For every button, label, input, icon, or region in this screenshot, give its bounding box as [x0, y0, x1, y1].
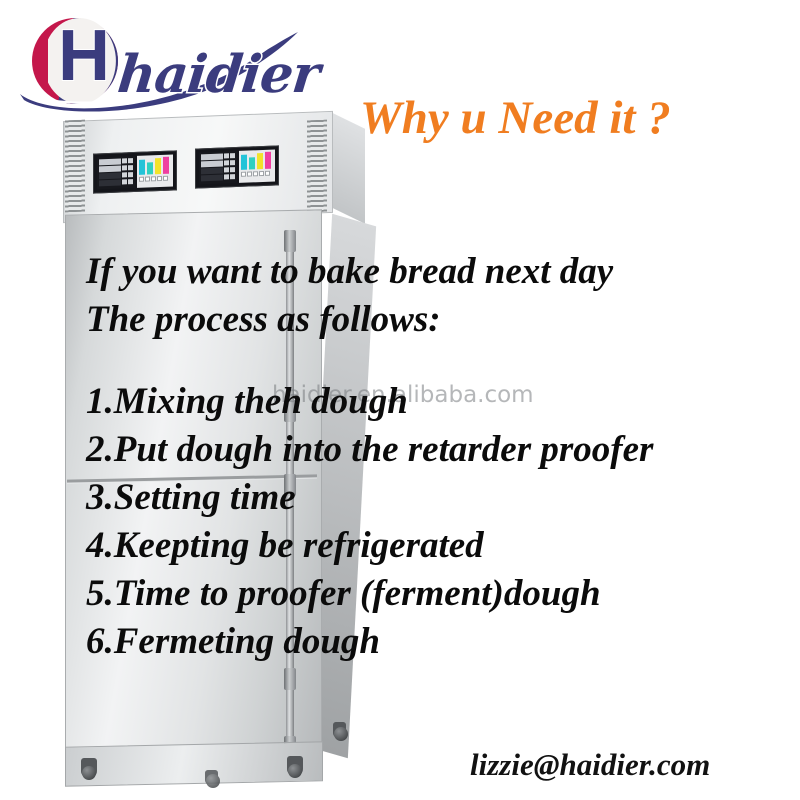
control-panel-right-display: [199, 151, 237, 184]
control-panel-left-keypad[interactable]: [137, 155, 173, 188]
panel-color-buttons[interactable]: [139, 157, 171, 175]
copy-step-4: 4.Keepting be refrigerated: [86, 522, 792, 570]
copy-step-6: 6.Fermeting dough: [86, 618, 792, 666]
logo-wordmark: haidier: [115, 46, 322, 104]
caster-front-left: [81, 758, 97, 778]
control-panel-right-keypad[interactable]: [239, 150, 275, 183]
haidier-logo: H haidier: [8, 4, 328, 119]
cabinet-base: [65, 741, 323, 786]
caster-front-right: [287, 756, 303, 776]
copy-step-5: 5.Time to proofer (ferment)dough: [86, 570, 792, 618]
cabinet-top-side: [329, 111, 365, 224]
promo-copy-block: If you want to bake bread next day The p…: [86, 248, 792, 666]
logo-letter-h: H: [58, 20, 108, 92]
caster-rear-right: [333, 722, 346, 739]
control-panel-left-display: [97, 156, 135, 189]
handle-grip-lower[interactable]: [284, 668, 296, 690]
copy-spacer: [86, 344, 792, 378]
copy-step-1: 1.Mixing theh dough: [86, 378, 792, 426]
page-title: Why u Need it ?: [360, 92, 671, 144]
control-panel-right[interactable]: [195, 145, 279, 188]
control-panel-left[interactable]: [93, 150, 177, 193]
panel-color-buttons[interactable]: [241, 152, 273, 170]
caster-rear-left: [205, 770, 218, 786]
copy-step-3: 3.Setting time: [86, 474, 792, 522]
copy-step-2: 2.Put dough into the retarder proofer: [86, 426, 792, 474]
copy-lead-line-2: The process as follows:: [86, 296, 792, 344]
promo-image-canvas: H haidier Why u Need it ?: [0, 0, 800, 800]
vent-louvers-right: [307, 120, 327, 213]
copy-lead-line-1: If you want to bake bread next day: [86, 248, 792, 296]
vent-louvers-left: [65, 120, 85, 213]
contact-email[interactable]: lizzie@haidier.com: [470, 748, 710, 782]
